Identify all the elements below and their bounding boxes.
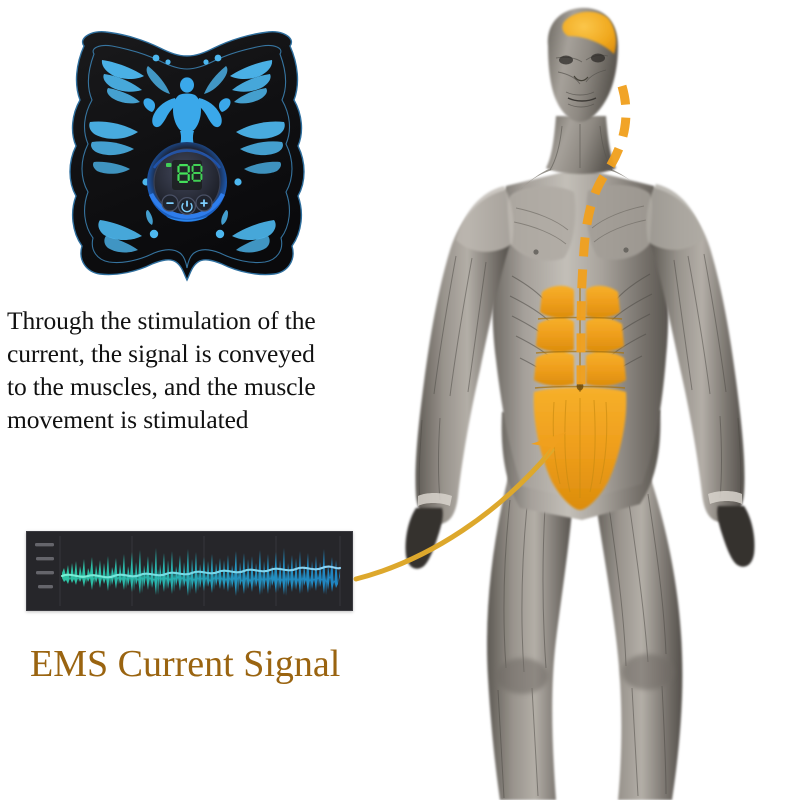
description-line-4: movement is stimulated <box>7 403 407 436</box>
hub-buttons <box>162 195 212 214</box>
neck <box>546 116 616 174</box>
description-line-1: Through the stimulation of the <box>7 304 407 337</box>
infographic-canvas: Through the stimulation of the current, … <box>0 0 800 800</box>
description-line-2: current, the signal is conveyed <box>7 337 407 370</box>
figure-body <box>405 8 754 800</box>
ems-signal-label: EMS Current Signal <box>30 642 340 686</box>
hand-right <box>717 506 754 567</box>
leg-left <box>487 470 574 800</box>
description-text: Through the stimulation of the current, … <box>7 304 407 436</box>
anatomy-figure <box>360 0 800 800</box>
leg-right <box>592 470 682 800</box>
pec-right <box>586 185 654 260</box>
deltoid-right <box>646 184 704 250</box>
deltoid-left <box>456 186 514 252</box>
ems-waveform-chart <box>26 531 353 611</box>
ems-stimulator-device[interactable] <box>62 22 312 290</box>
description-line-3: to the muscles, and the muscle <box>7 370 407 403</box>
hand-left <box>405 508 442 569</box>
decor-dot-right <box>234 178 241 185</box>
control-hub <box>147 142 227 222</box>
